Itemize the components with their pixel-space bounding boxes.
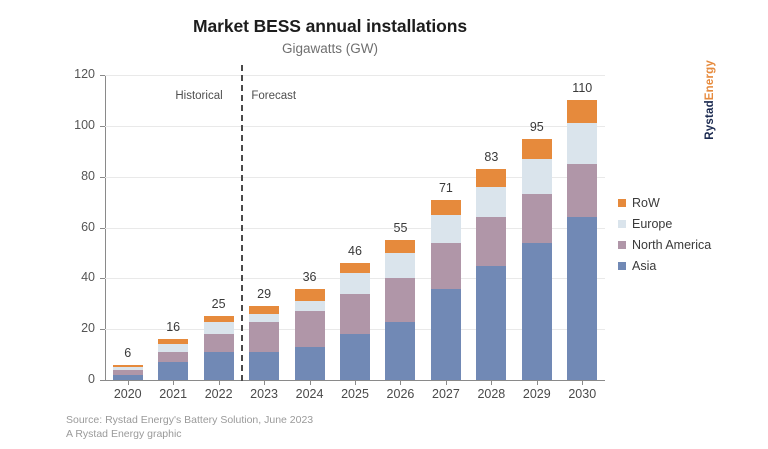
y-axis-tick-label: 60 [55, 220, 95, 234]
y-axis-tick-mark [100, 278, 105, 279]
bar-segment-north-america[interactable] [431, 243, 461, 289]
legend-label: RoW [632, 196, 660, 210]
source-note: Source: Rystad Energy's Battery Solution… [66, 414, 313, 441]
bar-segment-row[interactable] [295, 289, 325, 302]
x-axis-tick-mark [173, 380, 174, 385]
legend-item-row[interactable]: RoW [618, 192, 711, 213]
y-axis-tick-label: 80 [55, 169, 95, 183]
legend-swatch-icon [618, 262, 626, 270]
bar-segment-north-america[interactable] [340, 294, 370, 335]
y-axis-tick-mark [100, 75, 105, 76]
x-axis-tick-mark [537, 380, 538, 385]
y-axis-tick-label: 0 [55, 372, 95, 386]
bar-segment-asia[interactable] [249, 352, 279, 380]
bar-value-label-2025: 46 [325, 244, 385, 258]
bar-segment-north-america[interactable] [204, 334, 234, 352]
bar-value-label-2021: 16 [143, 320, 203, 334]
legend-item-north-america[interactable]: North America [618, 234, 711, 255]
y-axis-tick-mark [100, 329, 105, 330]
bar-2023[interactable] [249, 306, 279, 380]
source-line-2: A Rystad Energy graphic [66, 428, 313, 442]
bar-segment-north-america[interactable] [158, 352, 188, 362]
bar-segment-north-america[interactable] [385, 278, 415, 321]
y-axis-tick-mark [100, 177, 105, 178]
x-axis-tick-mark [582, 380, 583, 385]
bar-value-label-2020: 6 [98, 346, 158, 360]
historical-forecast-divider [241, 65, 243, 381]
bar-segment-asia[interactable] [204, 352, 234, 380]
bar-2029[interactable] [522, 139, 552, 380]
bar-segment-north-america[interactable] [567, 164, 597, 217]
bar-segment-north-america[interactable] [522, 194, 552, 242]
bar-value-label-2026: 55 [370, 221, 430, 235]
legend-swatch-icon [618, 220, 626, 228]
bar-value-label-2028: 83 [461, 150, 521, 164]
bar-segment-row[interactable] [476, 169, 506, 187]
bar-segment-row[interactable] [340, 263, 370, 273]
y-axis-tick-mark [100, 126, 105, 127]
bar-segment-europe[interactable] [567, 123, 597, 164]
x-axis-tick-mark [491, 380, 492, 385]
x-axis-tick-mark [355, 380, 356, 385]
x-axis-tick-mark [264, 380, 265, 385]
y-axis-tick-label: 20 [55, 321, 95, 335]
bar-2025[interactable] [340, 263, 370, 380]
bar-segment-europe[interactable] [158, 344, 188, 352]
chart-subtitle: Gigawatts (GW) [0, 41, 660, 56]
bar-segment-asia[interactable] [476, 266, 506, 380]
y-axis-tick-label: 120 [55, 67, 95, 81]
bar-segment-asia[interactable] [158, 362, 188, 380]
bar-segment-asia[interactable] [385, 322, 415, 380]
bar-segment-europe[interactable] [476, 187, 506, 218]
x-axis-tick-label-2030: 2030 [552, 387, 612, 401]
bar-value-label-2030: 110 [552, 81, 612, 95]
bar-segment-asia[interactable] [295, 347, 325, 380]
legend-swatch-icon [618, 199, 626, 207]
bar-value-label-2027: 71 [416, 181, 476, 195]
y-axis-tick-label: 40 [55, 270, 95, 284]
bar-segment-north-america[interactable] [295, 311, 325, 347]
bar-segment-asia[interactable] [340, 334, 370, 380]
y-axis-tick-label: 100 [55, 118, 95, 132]
bar-segment-row[interactable] [249, 306, 279, 314]
y-axis-tick-mark [100, 228, 105, 229]
source-line-1: Source: Rystad Energy's Battery Solution… [66, 414, 313, 428]
gridline [105, 75, 605, 76]
chart-container: Market BESS annual installations Gigawat… [0, 0, 768, 449]
bar-segment-europe[interactable] [340, 273, 370, 293]
legend-item-europe[interactable]: Europe [618, 213, 711, 234]
bar-2028[interactable] [476, 169, 506, 380]
bar-2021[interactable] [158, 339, 188, 380]
bar-2024[interactable] [295, 289, 325, 381]
legend-label: North America [632, 238, 711, 252]
historical-label: Historical [175, 90, 222, 102]
legend-label: Asia [632, 259, 656, 273]
logo-rystad-text: Rystad [704, 100, 716, 140]
x-axis-tick-mark [400, 380, 401, 385]
bar-segment-asia[interactable] [567, 217, 597, 380]
bar-segment-row[interactable] [522, 139, 552, 159]
rystad-energy-logo: RystadEnergy [702, 60, 722, 150]
chart-legend: RoWEuropeNorth AmericaAsia [618, 192, 711, 276]
x-axis-tick-mark [446, 380, 447, 385]
bar-segment-europe[interactable] [522, 159, 552, 195]
forecast-label: Forecast [251, 90, 296, 102]
bar-value-label-2029: 95 [507, 120, 567, 134]
bar-segment-europe[interactable] [204, 322, 234, 335]
legend-item-asia[interactable]: Asia [618, 255, 711, 276]
bar-segment-asia[interactable] [431, 289, 461, 381]
bar-segment-row[interactable] [385, 240, 415, 253]
bar-segment-north-america[interactable] [249, 322, 279, 353]
plot-area: 0204060801001206202016202125202229202336… [105, 75, 605, 380]
bar-value-label-2024: 36 [280, 270, 340, 284]
bar-2027[interactable] [431, 200, 461, 380]
legend-label: Europe [632, 217, 672, 231]
bar-segment-europe[interactable] [249, 314, 279, 322]
logo-energy-text: Energy [704, 60, 716, 100]
bar-2026[interactable] [385, 240, 415, 380]
bar-segment-row[interactable] [431, 200, 461, 215]
bar-segment-north-america[interactable] [476, 217, 506, 265]
bar-2022[interactable] [204, 316, 234, 380]
x-axis-tick-mark [219, 380, 220, 385]
bar-2030[interactable] [567, 100, 597, 380]
bar-segment-europe[interactable] [295, 301, 325, 311]
x-axis-tick-mark [128, 380, 129, 385]
bar-segment-asia[interactable] [522, 243, 552, 380]
bar-segment-row[interactable] [567, 100, 597, 123]
x-axis-tick-mark [310, 380, 311, 385]
bar-2020[interactable] [113, 365, 143, 380]
bar-segment-europe[interactable] [431, 215, 461, 243]
y-axis-tick-mark [100, 380, 105, 381]
legend-swatch-icon [618, 241, 626, 249]
chart-title: Market BESS annual installations [0, 16, 660, 37]
bar-segment-europe[interactable] [385, 253, 415, 278]
